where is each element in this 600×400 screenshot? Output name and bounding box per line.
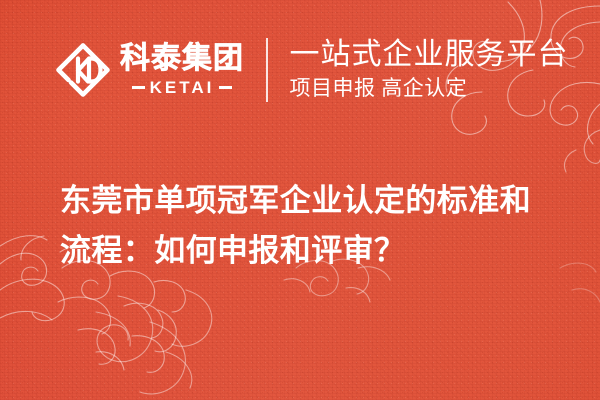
dash-left-icon — [132, 86, 145, 89]
article-title-line-2: 流程：如何申报和评审？ — [60, 226, 560, 276]
header-divider — [266, 38, 268, 102]
article-title-line-1: 东莞市单项冠军企业认定的标准和 — [60, 176, 560, 226]
brand-name-cn: 科泰集团 — [120, 44, 244, 74]
brand-logo[interactable]: 科泰集团 KETAI — [55, 42, 244, 98]
ketai-diamond-monogram-icon — [55, 42, 111, 98]
brand-name-en-row: KETAI — [120, 79, 244, 96]
cloud-mid-right-faint — [560, 263, 600, 302]
brand-tagline: 一站式企业服务平台 项目申报 高企认定 — [290, 38, 569, 101]
article-title: 东莞市单项冠军企业认定的标准和 流程：如何申报和评审？ — [60, 176, 560, 276]
cloud-ribbon-swirls — [96, 290, 212, 394]
dash-right-icon — [219, 86, 232, 89]
brand-name-en: KETAI — [150, 79, 215, 96]
promo-banner: 科泰集团 KETAI 一站式企业服务平台 项目申报 高企认定 东莞市单项冠军企业… — [0, 0, 600, 400]
tagline-secondary: 项目申报 高企认定 — [290, 75, 569, 101]
brand-wordmark: 科泰集团 KETAI — [120, 44, 244, 96]
tagline-primary: 一站式企业服务平台 — [290, 38, 569, 71]
banner-header: 科泰集团 KETAI 一站式企业服务平台 项目申报 高企认定 — [0, 0, 600, 140]
